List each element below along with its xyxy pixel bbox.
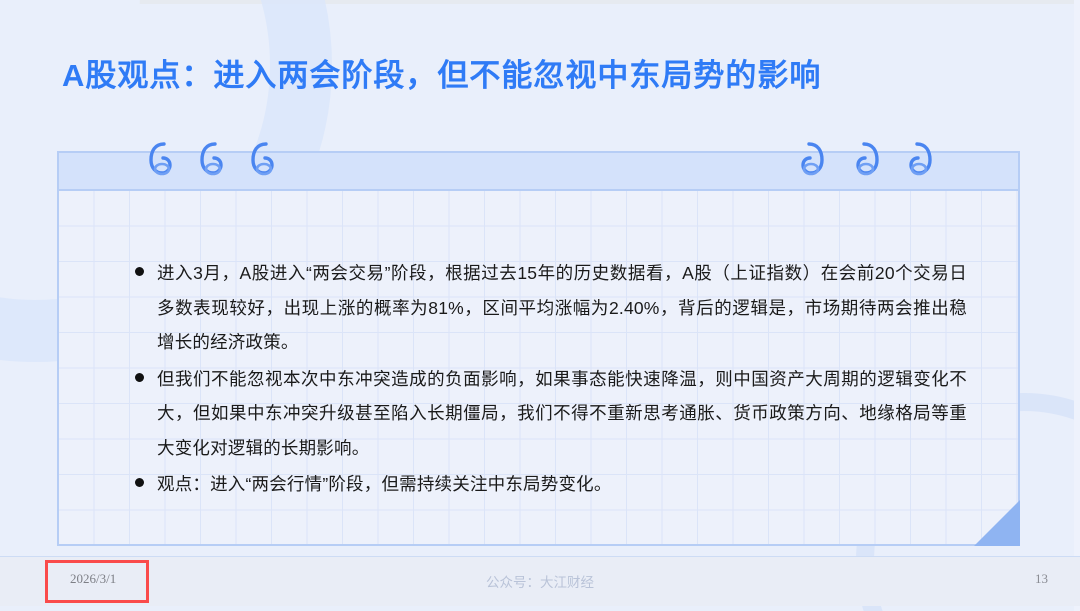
annotation-box-date [45,560,149,603]
notebook-card-header [59,153,1018,191]
footer-account-name: 公众号：大江财经 [0,571,1080,591]
list-item-text: 进入3月，A股进入“两会交易”阶段，根据过去15年的历史数据看，A股（上证指数）… [157,256,967,360]
list-item-text: 观点：进入“两会行情”阶段，但需持续关注中东局势变化。 [157,467,967,502]
list-item: 进入3月，A股进入“两会交易”阶段，根据过去15年的历史数据看，A股（上证指数）… [135,256,967,360]
page-number: 13 [1035,571,1048,587]
notebook-card: 进入3月，A股进入“两会交易”阶段，根据过去15年的历史数据看，A股（上证指数）… [57,151,1020,546]
footer-bar: 2026/3/1 公众号：大江财经 13 [0,557,1080,606]
list-item: 观点：进入“两会行情”阶段，但需持续关注中东局势变化。 [135,467,967,502]
bullet-dot-icon [135,256,157,276]
bullet-dot-icon [135,362,157,382]
list-item-text: 但我们不能忽视本次中东冲突造成的负面影响，如果事态能快速降温，则中国资产大周期的… [157,362,967,466]
bullet-list: 进入3月，A股进入“两会交易”阶段，根据过去15年的历史数据看，A股（上证指数）… [135,256,967,504]
bullet-dot-icon [135,467,157,487]
top-edge-strip [0,0,1080,4]
right-edge-strip [1074,0,1080,611]
slide-root: A股观点：进入两会阶段，但不能忽视中东局势的影响 进入3月，A股进入“两会交易”… [0,0,1080,611]
list-item: 但我们不能忽视本次中东冲突造成的负面影响，如果事态能快速降温，则中国资产大周期的… [135,362,967,466]
card-folded-corner [974,500,1020,546]
page-title: A股观点：进入两会阶段，但不能忽视中东局势的影响 [62,50,821,95]
